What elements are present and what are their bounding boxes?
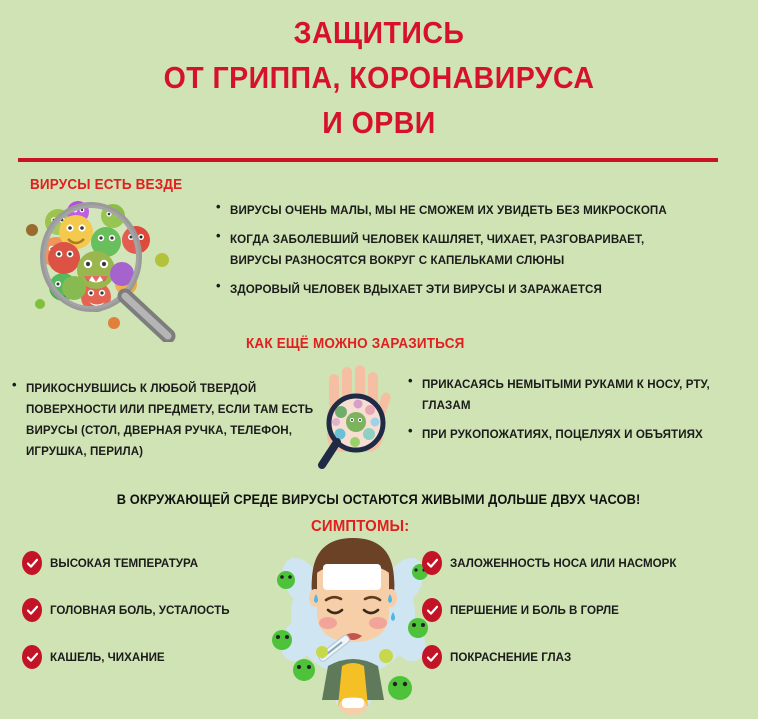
bullet-line: ВИРУСЫ (СТОЛ, ДВЕРНАЯ РУЧКА, ТЕЛЕФОН, xyxy=(26,420,288,441)
list-item: ГОЛОВНАЯ БОЛЬ, УСТАЛОСТЬ xyxy=(22,595,239,625)
check-icon xyxy=(422,598,442,622)
symptom-label: ГОЛОВНАЯ БОЛЬ, УСТАЛОСТЬ xyxy=(50,603,230,617)
check-icon xyxy=(422,551,442,575)
list-item: ПРИ РУКОПОЖАТИЯХ, ПОЦЕЛУЯХ И ОБЪЯТИЯХ xyxy=(408,424,748,445)
bullet-line: ЗДОРОВЫЙ ЧЕЛОВЕК ВДЫХАЕТ ЭТИ ВИРУСЫ И ЗА… xyxy=(230,279,730,300)
title-line-3: И ОРВИ xyxy=(30,100,727,145)
bullet-list-viruses-everywhere: ВИРУСЫ ОЧЕНЬ МАЛЫ, МЫ НЕ СМОЖЕМ ИХ УВИДЕ… xyxy=(216,200,756,308)
bullet-line: ПРИКАСАЯСЬ НЕМЫТЫМИ РУКАМИ К НОСУ, РТУ, xyxy=(422,374,732,395)
poster-title: ЗАЩИТИСЬ ОТ ГРИППА, КОРОНАВИРУСА И ОРВИ xyxy=(0,10,758,145)
list-item: ПОКРАСНЕНИЕ ГЛАЗ xyxy=(422,642,688,672)
list-item: ПРИКОСНУВШИСЬ К ЛЮБОЙ ТВЕРДОЙ ПОВЕРХНОСТ… xyxy=(12,378,302,462)
list-item: ЗДОРОВЫЙ ЧЕЛОВЕК ВДЫХАЕТ ЭТИ ВИРУСЫ И ЗА… xyxy=(216,279,756,300)
check-icon xyxy=(422,645,442,669)
symptom-list-right: ЗАЛОЖЕННОСТЬ НОСА ИЛИ НАСМОРК ПЕРШЕНИЕ И… xyxy=(422,548,688,689)
list-item: КОГДА ЗАБОЛЕВШИЙ ЧЕЛОВЕК КАШЛЯЕТ, ЧИХАЕТ… xyxy=(216,229,756,271)
list-item: КАШЕЛЬ, ЧИХАНИЕ xyxy=(22,642,239,672)
bullet-line: ВИРУСЫ ОЧЕНЬ МАЛЫ, МЫ НЕ СМОЖЕМ ИХ УВИДЕ… xyxy=(230,200,730,221)
symptom-list-left: ВЫСОКАЯ ТЕМПЕРАТУРА ГОЛОВНАЯ БОЛЬ, УСТАЛ… xyxy=(22,548,239,689)
check-icon xyxy=(22,598,42,622)
hand-magnifier-illustration xyxy=(296,360,416,480)
bullet-line: ПРИ РУКОПОЖАТИЯХ, ПОЦЕЛУЯХ И ОБЪЯТИЯХ xyxy=(422,424,732,445)
symptom-label: ПЕРШЕНИЕ И БОЛЬ В ГОРЛЕ xyxy=(450,603,619,617)
bullet-list-personal-contact: ПРИКАСАЯСЬ НЕМЫТЫМИ РУКАМИ К НОСУ, РТУ, … xyxy=(408,374,748,453)
sick-boy-illustration xyxy=(268,520,438,716)
symptom-label: КАШЕЛЬ, ЧИХАНИЕ xyxy=(50,650,165,664)
survival-time-banner: В ОКРУЖАЮЩЕЙ СРЕДЕ ВИРУСЫ ОСТАЮТСЯ ЖИВЫМ… xyxy=(0,492,758,507)
bullet-list-touch-surfaces: ПРИКОСНУВШИСЬ К ЛЮБОЙ ТВЕРДОЙ ПОВЕРХНОСТ… xyxy=(12,378,302,470)
section-heading-viruses-everywhere: ВИРУСЫ ЕСТЬ ВЕЗДЕ xyxy=(30,177,182,193)
bullet-line: КОГДА ЗАБОЛЕВШИЙ ЧЕЛОВЕК КАШЛЯЕТ, ЧИХАЕТ… xyxy=(230,229,730,250)
banner-text: В ОКРУЖАЮЩЕЙ СРЕДЕ ВИРУСЫ ОСТАЮТСЯ ЖИВЫМ… xyxy=(117,492,641,507)
title-divider-rule xyxy=(18,158,718,162)
check-icon xyxy=(22,645,42,669)
bullet-line: ВИРУСЫ РАЗНОСЯТСЯ ВОКРУГ С КАПЕЛЬКАМИ СЛ… xyxy=(230,250,730,271)
list-item: ВИРУСЫ ОЧЕНЬ МАЛЫ, МЫ НЕ СМОЖЕМ ИХ УВИДЕ… xyxy=(216,200,756,221)
section-heading-how-else-infected: КАК ЕЩЁ МОЖНО ЗАРАЗИТЬСЯ xyxy=(246,336,465,352)
list-item: ПЕРШЕНИЕ И БОЛЬ В ГОРЛЕ xyxy=(422,595,688,625)
check-icon xyxy=(22,551,42,575)
symptom-label: ВЫСОКАЯ ТЕМПЕРАТУРА xyxy=(50,556,198,570)
title-line-2: ОТ ГРИППА, КОРОНАВИРУСА xyxy=(30,55,727,100)
bullet-line: ПОВЕРХНОСТИ ИЛИ ПРЕДМЕТУ, ЕСЛИ ТАМ ЕСТЬ xyxy=(26,399,288,420)
title-line-1: ЗАЩИТИСЬ xyxy=(30,10,727,55)
infographic-poster: ЗАЩИТИСЬ ОТ ГРИППА, КОРОНАВИРУСА И ОРВИ … xyxy=(0,0,758,719)
symptom-label: ПОКРАСНЕНИЕ ГЛАЗ xyxy=(450,650,571,664)
bullet-line: ГЛАЗАМ xyxy=(422,395,732,416)
list-item: ЗАЛОЖЕННОСТЬ НОСА ИЛИ НАСМОРК xyxy=(422,548,688,578)
bullet-line: ПРИКОСНУВШИСЬ К ЛЮБОЙ ТВЕРДОЙ xyxy=(26,378,288,399)
list-item: ПРИКАСАЯСЬ НЕМЫТЫМИ РУКАМИ К НОСУ, РТУ, … xyxy=(408,374,748,416)
symptom-label: ЗАЛОЖЕННОСТЬ НОСА ИЛИ НАСМОРК xyxy=(450,556,676,570)
bullet-line: ИГРУШКА, ПЕРИЛА) xyxy=(26,441,288,462)
germ-cluster-magnifier-illustration xyxy=(18,192,203,342)
list-item: ВЫСОКАЯ ТЕМПЕРАТУРА xyxy=(22,548,239,578)
